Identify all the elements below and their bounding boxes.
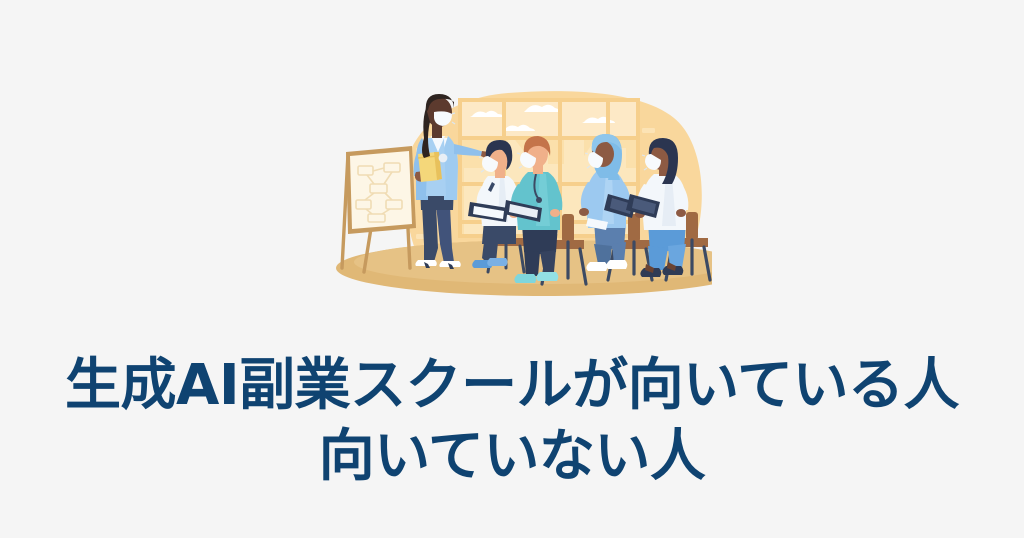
- presenter-badge: [439, 154, 448, 163]
- attendee3-shoe-left: [586, 262, 607, 271]
- presenter-notebook: [418, 152, 442, 182]
- page-title-line-2: 向いていない人: [0, 422, 1024, 493]
- medical-training-seminar-illustration: [312, 72, 712, 304]
- attendee1-shoe-right: [487, 258, 507, 266]
- attendee2-shoe-right: [536, 272, 558, 281]
- attendee3-shoe-right: [606, 260, 627, 269]
- page-title: 生成AI副業スクールが向いている人 向いていない人: [0, 351, 1024, 492]
- page-root: 生成AI副業スクールが向いている人 向いていない人: [0, 0, 1024, 538]
- page-title-line-1: 生成AI副業スクールが向いている人: [0, 351, 1024, 422]
- attendee2-shoe-left: [514, 274, 536, 283]
